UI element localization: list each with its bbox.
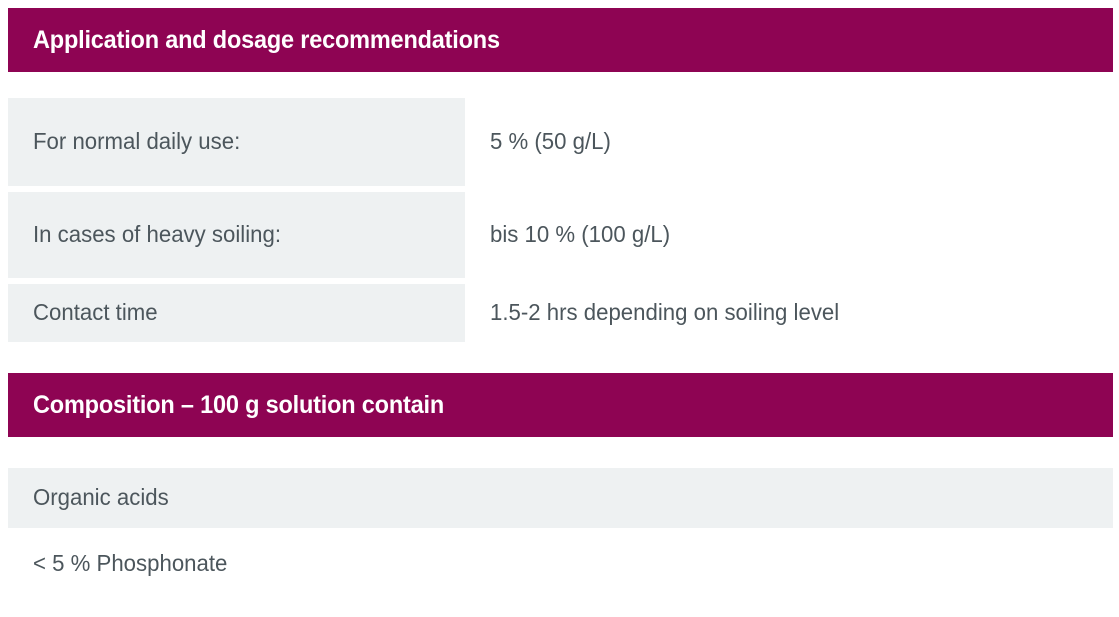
row-value-cell: 1.5-2 hrs depending on soiling level — [465, 284, 1113, 342]
row-label-cell: Contact time — [8, 284, 465, 342]
section-header-composition: Composition – 100 g solution contain — [8, 373, 1113, 437]
datasheet-panel: Application and dosage recommendations F… — [0, 0, 1119, 617]
row-value-cell: bis 10 % (100 g/L) — [465, 192, 1113, 278]
row-label-text: For normal daily use: — [33, 129, 240, 154]
row-value-text: 1.5-2 hrs depending on soiling level — [490, 300, 839, 325]
table-row: In cases of heavy soiling: bis 10 % (100… — [8, 192, 1113, 278]
row-value-text: 5 % (50 g/L) — [490, 129, 611, 154]
section-header-composition-title: Composition – 100 g solution contain — [33, 393, 444, 418]
row-label-text: Organic acids — [33, 485, 169, 510]
table-row: Contact time 1.5-2 hrs depending on soil… — [8, 284, 1113, 342]
section-header-application: Application and dosage recommendations — [8, 8, 1113, 72]
row-value-text: bis 10 % (100 g/L) — [490, 222, 670, 247]
row-label-cell: In cases of heavy soiling: — [8, 192, 465, 278]
section-header-application-title: Application and dosage recommendations — [33, 28, 500, 53]
row-label-cell: For normal daily use: — [8, 98, 465, 186]
table-row: For normal daily use: 5 % (50 g/L) — [8, 98, 1113, 186]
row-value-cell: 5 % (50 g/L) — [465, 98, 1113, 186]
table-row: < 5 % Phosphonate — [8, 534, 1113, 594]
table-row: Organic acids — [8, 468, 1113, 528]
row-label-text: < 5 % Phosphonate — [33, 551, 227, 576]
row-label-text: In cases of heavy soiling: — [33, 222, 281, 247]
row-label-text: Contact time — [33, 300, 158, 325]
